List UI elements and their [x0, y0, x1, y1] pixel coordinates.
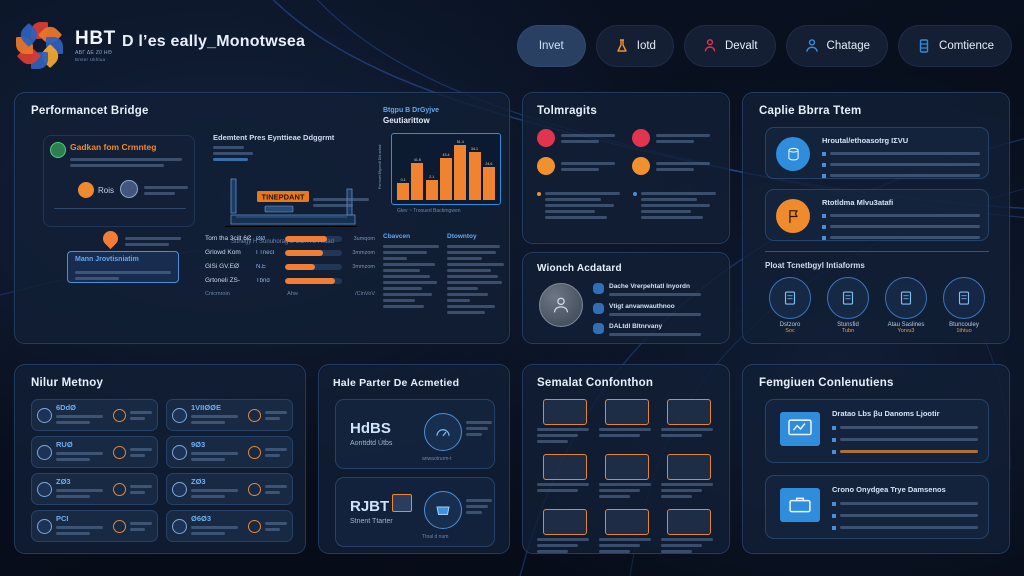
bar-chart-bar: 0.1	[397, 140, 409, 200]
text-line	[599, 428, 651, 431]
panel-wionch-acdatard: Wionch Acdatard Dache Vrerpehtatl Inyord…	[522, 252, 730, 344]
hale-card-0-code: HdBS	[350, 420, 391, 437]
semalat-tile-caption	[661, 483, 717, 498]
bullet-square-icon	[822, 163, 826, 167]
bullet-square-icon	[822, 225, 826, 229]
text-line	[641, 204, 710, 207]
nav-item-devalt[interactable]: Devalt	[684, 25, 776, 67]
nav-item-invet-label: Invet	[539, 40, 564, 52]
nilur-item-title: PCΙ	[56, 514, 109, 523]
text-line	[599, 434, 640, 437]
hale-card-1-sub: Stnent Ttarter	[350, 518, 393, 525]
ring-orange-icon	[248, 409, 261, 422]
metric-row[interactable]: Grtoneli ZS-Tbnd	[205, 277, 375, 284]
database-blue-icon	[776, 137, 810, 171]
bullet-square-icon	[822, 152, 826, 156]
panel-performance-bridge: Performancet Bridge Gadkan fom Crmnteg R…	[14, 92, 510, 344]
bullet-row	[832, 511, 978, 520]
text-line	[537, 489, 578, 492]
semalat-tile-caption	[537, 483, 593, 492]
panel-caplie-bbrra-ttem: Caplie Bbrra Ttem Hroutal/ethoasotrg ΙΣV…	[742, 92, 1010, 344]
gauge-glyph-icon	[434, 423, 452, 441]
flag-orange-icon	[113, 483, 126, 496]
camera-icon	[667, 454, 711, 480]
pinwheel-star-logo-icon	[14, 20, 66, 72]
chart-xlabel: Gtev ~ Trooued Bacbmgwen	[397, 208, 461, 214]
caplie-footer-item-sub: Yorvu3	[881, 328, 931, 334]
caplie-footer-item[interactable]: StunsfidTubn	[823, 277, 873, 334]
text-line	[641, 192, 716, 195]
bullet-square-icon	[822, 174, 826, 178]
text-line	[383, 281, 437, 284]
text-line	[641, 198, 697, 201]
nilur-list-item[interactable]: ZØ3	[31, 473, 158, 505]
bar-rect	[397, 183, 409, 200]
tolmragits-item[interactable]	[537, 157, 624, 175]
text-line	[447, 275, 498, 278]
semalat-tile[interactable]	[661, 454, 717, 501]
book-icon	[593, 323, 604, 334]
text-line	[447, 245, 500, 248]
text-line	[545, 198, 601, 201]
tolmragits-item[interactable]	[632, 129, 719, 147]
wionch-row[interactable]: Vtigt anvanwauthnoo	[593, 303, 719, 319]
gauge-blue-icon	[424, 413, 462, 451]
bullet-square-icon	[832, 526, 836, 530]
femgiuen-card-1-heading: Crono Onydgea Trye Damsenos	[832, 485, 946, 494]
main-navigation: Invet Iotd Devalt Chat	[517, 25, 1012, 67]
metric-row[interactable]: Grlowd KomI TnecΙ3mmzom	[205, 249, 375, 256]
flask-icon	[614, 38, 630, 54]
journey-card[interactable]: Gadkan fom Crmnteg Rois	[43, 135, 195, 227]
metrics-footer-0: Cnicmroin	[205, 291, 230, 297]
text-line	[447, 269, 491, 272]
nav-item-devalt-label: Devalt	[725, 40, 758, 52]
panel-femgiuen-conlenutiens-title: Femgiuen Conlenutiens	[759, 377, 894, 389]
hand-orange-icon	[113, 446, 126, 459]
quote-icon	[593, 283, 604, 294]
semalat-tile-caption	[599, 538, 655, 553]
caplie-footer-item[interactable]: Btuncouley1thtuo	[939, 277, 989, 334]
badge-star-icon	[885, 277, 927, 319]
gear-icon	[172, 408, 187, 423]
nilur-list-item[interactable]: 6DdØ	[31, 399, 158, 431]
text-line	[545, 216, 607, 219]
nilur-list-item[interactable]: 1VΙΙØØΕ	[166, 399, 293, 431]
bullet-square-icon	[832, 438, 836, 442]
nav-item-comtience-label: Comtience	[939, 40, 994, 52]
map-pin-icon	[100, 228, 121, 249]
coin-orange-icon	[632, 157, 650, 175]
brain-icon	[37, 408, 52, 423]
bullet-square-icon	[822, 236, 826, 240]
database-glyph-icon	[785, 146, 802, 163]
brand-subtitle-2: Bmter Ukhlua	[75, 58, 116, 63]
semalat-tile-caption	[599, 483, 655, 498]
metric-value: 3mmzom	[347, 264, 375, 270]
wionch-row[interactable]: Dache Vrerpehtatl Inyordn	[593, 283, 719, 299]
semalat-tile-caption	[661, 428, 717, 437]
metric-tag: Tbnd	[256, 278, 280, 284]
text-line	[599, 550, 630, 553]
box-glyph-icon	[434, 501, 452, 519]
bar-chart-bar: 51.4	[454, 140, 466, 200]
metric-bar	[285, 278, 342, 284]
tools-icon	[827, 277, 869, 319]
wionch-row[interactable]: DALtdl Bltnrvany	[593, 323, 719, 339]
bullet-square-icon	[822, 214, 826, 218]
hale-card-0-sub: Aonttdtd Ùtbs	[350, 440, 392, 447]
bullet-dot-icon	[537, 192, 541, 196]
case-glyph-icon	[786, 494, 814, 516]
text-line	[383, 257, 407, 260]
nilur-item-title: ZØ3	[56, 477, 109, 486]
globe-green-icon	[50, 142, 66, 158]
text-line	[545, 192, 620, 195]
caplie-card-1[interactable]: Rtotldma Mlvu3atafi	[765, 189, 989, 241]
metric-row[interactable]: Tom tha 3cilt 6ØØØ3umqom	[205, 235, 375, 242]
bar-chart-plot: 0.141.62.143.451.434.124.6	[391, 133, 501, 205]
metric-value: 3umqom	[347, 236, 375, 242]
metric-tag: N.E	[256, 264, 280, 270]
semalat-tile[interactable]	[599, 454, 655, 501]
chart-card: Btgpu Β DrGyjve Geutiarittow Pormoet Bfg…	[383, 107, 503, 219]
metric-bar-fill	[285, 236, 327, 242]
text-line	[383, 287, 422, 290]
bullet-row	[822, 171, 980, 180]
caplie-footer-item-sub: Tubn	[823, 328, 873, 334]
page-title: D l’es eally_Monotwsea	[122, 33, 305, 51]
bullet-row	[822, 222, 980, 231]
panel-caplie-bbrra-ttem-title: Caplie Bbrra Ttem	[759, 105, 861, 117]
chart-ylabel: Pormoet Bfgomdl Dbt antad	[378, 145, 382, 189]
truck-icon	[943, 277, 985, 319]
bar-chart-bar: 2.1	[426, 140, 438, 200]
bulb-icon	[78, 182, 94, 198]
semalat-tile-caption	[661, 538, 717, 553]
bullet-row	[822, 211, 980, 220]
alert-red-icon	[537, 129, 555, 147]
text-line	[383, 263, 435, 266]
capsule-icon	[172, 519, 187, 534]
nav-item-iotd[interactable]: Iotd	[596, 25, 674, 67]
tolmragits-item-text	[561, 159, 624, 174]
text-line	[537, 550, 568, 553]
sign-orange-icon	[248, 446, 261, 459]
bar-rect	[411, 163, 423, 200]
bullet-square-icon	[832, 426, 836, 430]
semalat-tile[interactable]	[661, 399, 717, 446]
nilur-item-title: 1VΙΙØØΕ	[191, 403, 244, 412]
semalat-tile[interactable]	[599, 509, 655, 556]
machine-icon	[605, 509, 649, 535]
panel-hale-parter-title: Hale Parter De Acmetied	[333, 377, 459, 389]
bullet-square-icon	[832, 450, 836, 454]
caplie-footer-item[interactable]: DstzoroSoc	[765, 277, 815, 334]
monitor-icon	[605, 399, 649, 425]
semalat-tile-caption	[537, 428, 593, 443]
semalat-tile[interactable]	[537, 509, 593, 556]
gesture-orange-icon	[113, 409, 126, 422]
chart-orange-icon	[537, 157, 555, 175]
bar-value-label: 34.1	[471, 147, 478, 151]
metric-label: Tom tha 3cilt 6Ø	[205, 235, 251, 242]
text-line	[447, 263, 504, 266]
nilur-list-item[interactable]: ZØ3	[166, 473, 293, 505]
leaf-icon	[37, 445, 52, 460]
box-blue-icon	[424, 491, 462, 529]
panel-semalat-confonthon-title: Semalat Confonthon	[537, 377, 653, 389]
tolmragits-item[interactable]	[537, 129, 624, 147]
monitor-blue-icon	[780, 412, 820, 446]
bullet-row	[832, 499, 978, 508]
text-line	[599, 495, 630, 498]
text-line	[545, 204, 614, 207]
journey-card-heading: Gadkan fom Crmnteg	[70, 142, 156, 152]
bullet-row	[832, 523, 978, 532]
bar-value-label: 43.4	[442, 153, 449, 157]
text-line	[537, 440, 568, 443]
key-orange-icon	[113, 520, 126, 533]
bullet-row	[832, 423, 978, 432]
text-line	[641, 210, 691, 213]
wionch-row-heading: DALtdl Bltnrvany	[609, 323, 719, 330]
nav-item-chatage-label: Chatage	[827, 40, 870, 52]
text-line	[447, 281, 502, 284]
person-glyph-icon	[550, 294, 572, 316]
shield-icon	[37, 482, 52, 497]
rack-icon	[667, 509, 711, 535]
chart-heading: Geutiarittow	[383, 116, 503, 125]
tolmragits-footer-column	[633, 189, 719, 222]
nilur-item-title: 9Ø3	[191, 440, 244, 449]
badge-icon	[120, 180, 138, 198]
text-line	[661, 544, 702, 547]
panel-semalat-confonthon: Semalat Confonthon	[522, 364, 730, 554]
bullet-row	[822, 149, 980, 158]
bar-rect	[454, 145, 466, 200]
text-line	[447, 293, 488, 296]
case-blue-icon	[780, 488, 820, 522]
diagram-heading: Edemtent Pres Eynttieae Ddggrmt	[213, 133, 373, 142]
nilur-item-title: 6DdØ	[56, 403, 109, 412]
monitor-glyph-icon	[786, 418, 814, 440]
caplie-card-0[interactable]: Hroutal/ethoasotrg ΙΣVU	[765, 127, 989, 179]
text-line	[447, 311, 485, 314]
nilur-list-item[interactable]: Ø6Ø3	[166, 510, 293, 542]
person-gray-icon	[539, 283, 583, 327]
caplie-footer-heading: Ploat Tcnetbgyl Intiaforms	[765, 261, 865, 270]
panel-femgiuen-conlenutiens: Femgiuen Conlenutiens Dratao Lbs βu Dano…	[742, 364, 1010, 554]
panel-hale-parter: Hale Parter De Acmetied HdBS Aonttdtd Ùt…	[318, 364, 510, 554]
femgiuen-card-1[interactable]: Crono Onydgea Trye Damsenos	[765, 475, 989, 539]
panel-tolmragits-title: Tolmragits	[537, 105, 597, 117]
semalat-tile[interactable]	[537, 399, 593, 446]
bullet-row	[832, 447, 978, 456]
nilur-list-item[interactable]: 9Ø3	[166, 436, 293, 468]
metric-bar	[285, 264, 342, 270]
text-line	[447, 299, 470, 302]
text-line	[641, 216, 703, 219]
metric-bar	[285, 250, 342, 256]
svg-text:TINEPDANT: TINEPDANT	[262, 193, 305, 202]
user-blue-icon	[804, 38, 820, 54]
highlight-box[interactable]: Mann Jrovtisniatim	[67, 251, 179, 283]
bar-value-label: 51.4	[457, 140, 464, 144]
text-line	[661, 428, 713, 431]
text-line	[447, 287, 478, 290]
bar-rect	[426, 180, 438, 200]
semalat-tile[interactable]	[661, 509, 717, 556]
text-line	[383, 299, 415, 302]
wionch-row-heading: Dache Vrerpehtatl Inyordn	[609, 283, 719, 290]
tolmragits-footer-column	[537, 189, 623, 222]
target-icon	[593, 303, 604, 314]
nilur-item-title: Ø6Ø3	[191, 514, 244, 523]
panel-tolmragits: Tolmragits	[522, 92, 730, 244]
detail-column-right: Dtowntoy	[447, 233, 505, 317]
nav-item-comtience[interactable]: Comtience	[898, 25, 1012, 67]
panel-wionch-acdatard-title: Wionch Acdatard	[537, 263, 622, 274]
metrics-list: Tom tha 3cilt 6ØØØ3umqomGrlowd KomI Tnec…	[205, 235, 375, 297]
journey-node-label: Rois	[98, 186, 114, 195]
text-line	[447, 257, 482, 260]
tolmragits-item-text	[656, 131, 719, 146]
shelf-icon	[543, 509, 587, 535]
detail-column-right-heading: Dtowntoy	[447, 233, 505, 240]
text-line	[383, 251, 427, 254]
metric-bar-fill	[285, 264, 315, 270]
semalat-tile[interactable]	[599, 399, 655, 446]
text-line	[537, 544, 578, 547]
text-line	[447, 305, 495, 308]
brand-logo[interactable]: HBT ΑΒΓ ΔΕ Ζ0 ΗΘ Bmter Ukhlua	[14, 20, 116, 72]
text-line	[383, 275, 430, 278]
caplie-footer-item-sub: Soc	[765, 328, 815, 334]
bullet-row	[822, 160, 980, 169]
text-line	[383, 269, 420, 272]
server-rack-icon	[769, 277, 811, 319]
text-line	[537, 483, 589, 486]
text-line	[383, 245, 439, 248]
printer-orange-icon	[392, 494, 412, 512]
tolmragits-item[interactable]	[632, 157, 719, 175]
bullet-dot-icon	[633, 192, 637, 196]
nilur-item-title: RUØ	[56, 440, 109, 449]
semalat-tile[interactable]	[537, 454, 593, 501]
text-line	[383, 293, 432, 296]
chart-eyebrow: Btgpu Β DrGyjve	[383, 107, 503, 114]
window-icon	[543, 454, 587, 480]
text-line	[447, 251, 496, 254]
bar-chart-bar: 24.6	[483, 140, 495, 200]
semalat-tile-caption	[537, 538, 593, 553]
panel-performance-bridge-title: Performancet Bridge	[31, 105, 149, 117]
text-line	[537, 428, 589, 431]
spark-orange-icon	[248, 483, 261, 496]
text-line	[545, 210, 595, 213]
nilur-list-item[interactable]: PCΙ	[31, 510, 158, 542]
flag-orange-icon	[776, 199, 810, 233]
buildings-a-icon	[543, 399, 587, 425]
bar-chart-bar: 41.6	[411, 140, 423, 200]
metrics-footer-2: /ClnVoV	[355, 291, 375, 297]
semalat-tile-caption	[599, 428, 655, 437]
detail-column-left: Cbavcen	[383, 233, 439, 311]
metric-value: 3mmzom	[347, 250, 375, 256]
caplie-footer-item[interactable]: Atau SaslinesYorvu3	[881, 277, 931, 334]
panel-nilur-metnoy: Nilur Metnoy 6DdØ1VΙΙØØΕRUØ9Ø3ZØ3ZØ3PCΙØ…	[14, 364, 306, 554]
femgiuen-card-0-heading: Dratao Lbs βu Danoms Ljootir	[832, 409, 940, 418]
metrics-footer-1: Ahw	[287, 291, 298, 297]
text-line	[599, 544, 640, 547]
text-line	[661, 538, 713, 541]
metric-row[interactable]: GlSi GV.EØN.E3mmzom	[205, 263, 375, 270]
office-icon	[605, 454, 649, 480]
dashboard-root: HBT ΑΒΓ ΔΕ Ζ0 ΗΘ Bmter Ukhlua D l’es eal…	[0, 0, 1024, 576]
metric-bar-fill	[285, 278, 335, 284]
text-line	[383, 305, 424, 308]
text-line	[599, 538, 651, 541]
metric-bar	[285, 236, 342, 242]
bar-value-label: 41.6	[414, 158, 421, 162]
hand-red-icon	[632, 129, 650, 147]
nilur-item-title: ZØ3	[191, 477, 244, 486]
femgiuen-card-0[interactable]: Dratao Lbs βu Danoms Ljootir	[765, 399, 989, 463]
metric-tag: I TnecΙ	[256, 250, 280, 256]
hale-card-0[interactable]: HdBS Aonttdtd Ùtbs anwaotrurm-t	[335, 399, 495, 469]
metric-tag: ØØ	[256, 236, 280, 242]
text-line	[537, 434, 578, 437]
node-icon	[172, 482, 187, 497]
factory-icon	[667, 399, 711, 425]
bar-rect	[469, 152, 481, 200]
app-header: HBT ΑΒΓ ΔΕ Ζ0 ΗΘ Bmter Ukhlua D l’es eal…	[0, 0, 1024, 92]
detail-column-left-heading: Cbavcen	[383, 233, 439, 240]
nilur-list-item[interactable]: RUØ	[31, 436, 158, 468]
brand-subtitle-1: ΑΒΓ ΔΕ Ζ0 ΗΘ	[75, 51, 116, 56]
bar-rect	[440, 158, 452, 200]
caplie-footer-item-sub: 1thtuo	[939, 328, 989, 334]
text-line	[599, 483, 651, 486]
server-icon	[916, 38, 932, 54]
hale-card-1-footnote: Ttoal d num	[422, 534, 448, 540]
bar-chart-bar: 43.4	[440, 140, 452, 200]
nav-item-chatage[interactable]: Chatage	[786, 25, 888, 67]
nav-item-invet[interactable]: Invet	[517, 25, 586, 67]
flag-glyph-icon	[785, 208, 802, 225]
bar-value-label: 0.1	[401, 178, 406, 182]
nav-item-iotd-label: Iotd	[637, 40, 656, 52]
tolmragits-item-text	[656, 159, 719, 174]
text-line	[537, 538, 589, 541]
bar-rect	[483, 167, 495, 200]
bar-chart-bar: 34.1	[469, 140, 481, 200]
tolmragits-item-text	[561, 131, 624, 146]
bullet-row	[822, 233, 980, 242]
brand-name: HBT	[75, 29, 116, 48]
metric-label: Grlowd Kom	[205, 249, 251, 256]
text-line	[599, 489, 640, 492]
headset-icon	[37, 519, 52, 534]
highlight-box-heading: Mann Jrovtisniatim	[75, 256, 139, 263]
hale-card-1[interactable]: RJBT Stnent Ttarter Ttoal d num	[335, 477, 495, 547]
text-line	[661, 483, 713, 486]
metric-label: Grtoneli ZS-	[205, 277, 251, 284]
clip-orange-icon	[248, 520, 261, 533]
text-line	[661, 550, 692, 553]
caplie-card-0-heading: Hroutal/ethoasotrg ΙΣVU	[822, 136, 908, 145]
